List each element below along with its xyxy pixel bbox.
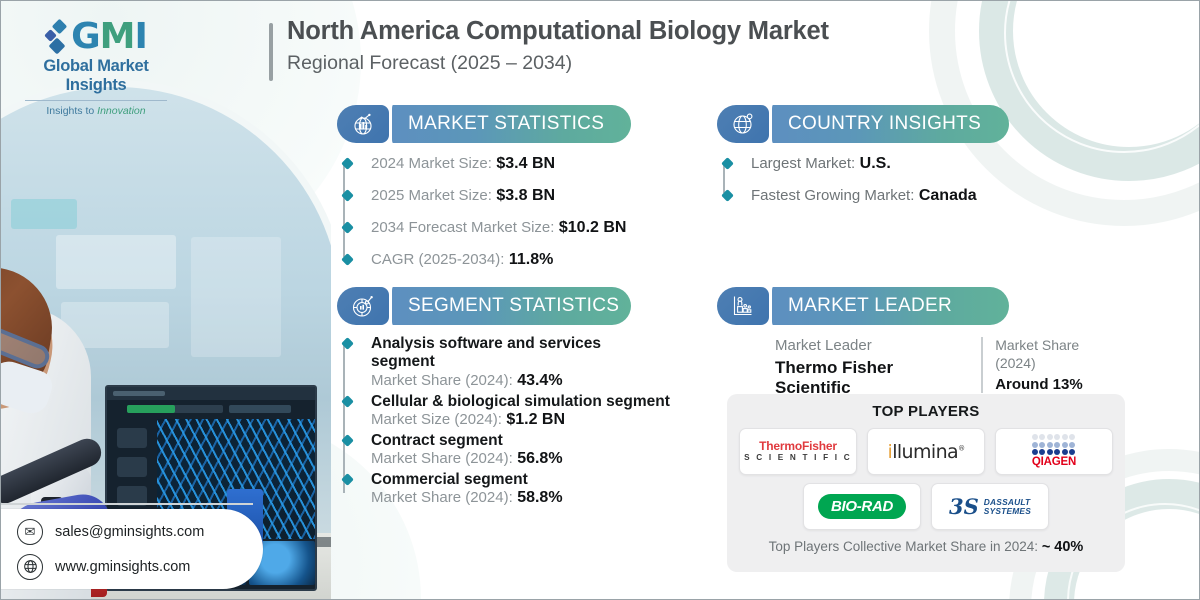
item-label: 2034 Forecast Market Size: — [371, 219, 554, 236]
dassault-3ds-mark-icon: 3S — [949, 494, 979, 519]
list-item: CAGR (2025-2034): 11.8% — [371, 251, 697, 269]
lab-shelf — [56, 235, 176, 289]
dassault-wordmark: DASSAULT SYSTEMES — [984, 498, 1031, 515]
diamond-cluster-icon — [45, 20, 67, 54]
item-value: Canada — [919, 187, 977, 204]
item-label: Largest Market: — [751, 155, 855, 172]
logo-letters: GMI — [71, 19, 147, 55]
thermo-fisher-logo: ThermoFisher S C I E N T I F I C — [744, 440, 852, 462]
item-value: 56.8% — [517, 450, 562, 467]
item-label: Market Share (2024): — [371, 372, 513, 389]
logo-tagline-accent: Innovation — [97, 105, 145, 117]
player-card-illumina[interactable]: illumina® — [867, 428, 985, 475]
envelope-icon: ✉ — [17, 519, 43, 545]
item-value: 11.8% — [509, 251, 553, 268]
item-value: 58.8% — [517, 489, 562, 506]
monitor-field — [229, 405, 291, 413]
globe-chart-icon — [337, 105, 389, 143]
dassault-systemes-logo: 3S DASSAULT SYSTEMES — [949, 494, 1031, 519]
podium-icon — [717, 287, 769, 325]
logo-tagline-prefix: Insights to — [46, 105, 97, 117]
section-country-insights: COUNTRY INSIGHTS Largest Market: U.S. Fa… — [717, 105, 1057, 212]
player-card-dassault-systemes[interactable]: 3S DASSAULT SYSTEMES — [931, 483, 1049, 530]
market-leader-label: Market Leader — [775, 337, 872, 354]
market-share-label: Market Share (2024) — [995, 337, 1079, 371]
market-leader-name-block: Market Leader Thermo Fisher Scientific — [775, 337, 981, 398]
page-title: North America Computational Biology Mark… — [269, 17, 829, 75]
pie-chart-icon — [337, 287, 389, 325]
item-label: Market Share (2024): — [371, 489, 513, 506]
lab-shelf — [11, 199, 77, 229]
list-item: 2025 Market Size: $3.8 BN — [371, 187, 697, 205]
item-label: Market Size (2024): — [371, 411, 502, 428]
thermo-fisher-name: ThermoFisher — [744, 440, 852, 452]
bio-rad-logo: BIO-RAD — [818, 494, 906, 519]
item-value: $1.2 BN — [506, 411, 565, 428]
qiagen-dot-grid-icon — [1032, 434, 1076, 455]
list-item: Largest Market: U.S. — [751, 155, 1057, 173]
gmi-logo: GMI Global Market Insights Insights to I… — [11, 19, 181, 117]
player-card-qiagen[interactable]: QIAGEN — [995, 428, 1113, 475]
contact-website-row[interactable]: www.gminsights.com — [17, 554, 263, 580]
segment-title: Analysis software and services segment — [371, 335, 623, 372]
logo-company-name: Global Market Insights — [11, 57, 181, 95]
logo-mark-row: GMI — [11, 19, 181, 55]
item-label: CAGR (2025-2034): — [371, 251, 504, 268]
market-statistics-title-bar: MARKET STATISTICS — [389, 105, 631, 143]
market-statistics-heading: MARKET STATISTICS — [408, 113, 604, 135]
item-value: $3.8 BN — [496, 187, 555, 204]
section-segment-statistics: SEGMENT STATISTICS Analysis software and… — [337, 287, 737, 514]
illumina-logo: illumina® — [888, 441, 965, 463]
top-players-heading: TOP PLAYERS — [739, 403, 1113, 420]
title-subtitle: Regional Forecast (2025 – 2034) — [287, 52, 829, 75]
item-label: Fastest Growing Market: — [751, 187, 914, 204]
segment-metric: Market Share (2024): 58.8% — [371, 489, 737, 507]
country-insights-header: COUNTRY INSIGHTS — [717, 105, 1057, 143]
player-card-thermo-fisher[interactable]: ThermoFisher S C I E N T I F I C — [739, 428, 857, 475]
top-players-row: ThermoFisher S C I E N T I F I C illumin… — [739, 428, 1113, 475]
country-insights-list: Largest Market: U.S. Fastest Growing Mar… — [717, 155, 1057, 205]
segment-metric: Market Size (2024): $1.2 BN — [371, 411, 737, 429]
market-leader-share-block: Market Share (2024) Around 13% — [981, 337, 1117, 393]
segment-statistics-list: Analysis software and services segment M… — [337, 335, 737, 507]
list-item: 2024 Market Size: $3.4 BN — [371, 155, 697, 173]
segment-statistics-header: SEGMENT STATISTICS — [337, 287, 737, 325]
item-label: 2025 Market Size: — [371, 187, 492, 204]
section-market-leader: MARKET LEADER Market Leader Thermo Fishe… — [717, 287, 1117, 398]
logo-divider — [25, 100, 167, 101]
item-value: $10.2 BN — [559, 219, 627, 236]
list-item: Fastest Growing Market: Canada — [751, 187, 1057, 205]
market-leader-heading: MARKET LEADER — [788, 295, 952, 317]
timeline-line — [343, 343, 345, 493]
qiagen-logo: QIAGEN — [1032, 434, 1076, 469]
registered-icon: ® — [958, 444, 964, 452]
illumina-name: llumina — [892, 441, 958, 463]
item-value: $3.4 BN — [496, 155, 555, 172]
top-players-note-value: ~ 40% — [1042, 539, 1084, 555]
lab-shelf — [191, 237, 281, 357]
segment-title: Commercial segment — [371, 471, 737, 489]
top-players-row: BIO-RAD 3S DASSAULT SYSTEMES — [739, 483, 1113, 530]
country-insights-heading: COUNTRY INSIGHTS — [788, 113, 981, 135]
market-share-value: Around 13% — [995, 376, 1117, 393]
globe-pin-icon — [717, 105, 769, 143]
segment-statistics-title-bar: SEGMENT STATISTICS — [389, 287, 631, 325]
contact-bar: ✉ sales@gminsights.com www.gminsights.co… — [0, 509, 263, 589]
top-players-panel: TOP PLAYERS ThermoFisher S C I E N T I F… — [727, 394, 1125, 572]
market-leader-body: Market Leader Thermo Fisher Scientific M… — [717, 337, 1117, 398]
segment-metric: Market Share (2024): 56.8% — [371, 450, 737, 468]
country-insights-title-bar: COUNTRY INSIGHTS — [769, 105, 1009, 143]
contact-email-row[interactable]: ✉ sales@gminsights.com — [17, 519, 263, 545]
market-statistics-list: 2024 Market Size: $3.4 BN 2025 Market Si… — [337, 155, 697, 269]
logo-tagline: Insights to Innovation — [11, 105, 181, 117]
market-leader-value: Thermo Fisher Scientific — [775, 358, 963, 398]
contact-website[interactable]: www.gminsights.com — [55, 559, 190, 575]
player-card-bio-rad[interactable]: BIO-RAD — [803, 483, 921, 530]
title-main: North America Computational Biology Mark… — [287, 17, 829, 46]
segment-title: Contract segment — [371, 432, 737, 450]
item-label: Market Share (2024): — [371, 450, 513, 467]
segment-metric: Market Share (2024): 43.4% — [371, 372, 737, 390]
thermo-fisher-subname: S C I E N T I F I C — [744, 454, 852, 462]
list-item: Cellular & biological simulation segment… — [371, 393, 737, 429]
item-value: U.S. — [860, 155, 891, 172]
monitor-titlebar — [107, 387, 315, 400]
qiagen-name: QIAGEN — [1032, 457, 1076, 469]
top-players-note-label: Top Players Collective Market Share in 2… — [769, 539, 1038, 554]
market-statistics-header: MARKET STATISTICS — [337, 105, 697, 143]
market-leader-title-bar: MARKET LEADER — [769, 287, 1009, 325]
list-item: Contract segment Market Share (2024): 56… — [371, 432, 737, 468]
list-item: Commercial segment Market Share (2024): … — [371, 471, 737, 507]
dassault-line2: SYSTEMES — [984, 507, 1031, 516]
market-leader-header: MARKET LEADER — [717, 287, 1117, 325]
item-label: 2024 Market Size: — [371, 155, 492, 172]
top-players-note: Top Players Collective Market Share in 2… — [739, 539, 1113, 555]
item-value: 43.4% — [517, 372, 562, 389]
contact-email[interactable]: sales@gminsights.com — [55, 524, 204, 540]
monitor-progress-bar — [127, 405, 223, 413]
list-item: Analysis software and services segment M… — [371, 335, 737, 390]
segment-title: Cellular & biological simulation segment — [371, 393, 737, 411]
section-market-statistics: MARKET STATISTICS 2024 Market Size: $3.4… — [337, 105, 697, 276]
globe-icon — [17, 554, 43, 580]
segment-statistics-heading: SEGMENT STATISTICS — [408, 295, 619, 317]
list-item: 2034 Forecast Market Size: $10.2 BN — [371, 219, 697, 237]
infographic-canvas: GMI Global Market Insights Insights to I… — [0, 0, 1200, 600]
timeline-line — [343, 163, 345, 257]
